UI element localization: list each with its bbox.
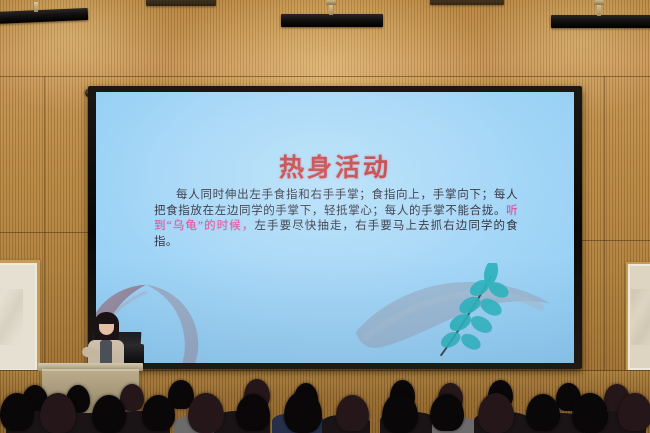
projection-screen: 热身活动 每人同时伸出左手食指和右手手掌；食指向上，手掌向下；每人把食指放在左边… xyxy=(88,86,582,369)
leaf-branch-decoration xyxy=(420,263,516,359)
wall-seam-vertical xyxy=(44,76,45,372)
slide-title: 热身活动 xyxy=(96,148,574,184)
wall-seam-vertical xyxy=(604,76,605,372)
wall-seam xyxy=(572,240,650,241)
ceiling-light-fixture xyxy=(146,0,216,6)
slide-body-part: 每人同时伸出左手食指和右手手掌；食指向上，手掌向下；每人把食指放在左边同学的手掌… xyxy=(154,189,518,217)
presentation-photo: 热身活动 每人同时伸出左手食指和右手手掌；食指向上，手掌向下；每人把食指放在左边… xyxy=(0,0,650,433)
ceiling-light-fixture xyxy=(551,15,650,28)
ceiling-light-cap xyxy=(594,0,604,5)
ceiling-light-cap xyxy=(326,0,336,5)
ceiling-light-fixture xyxy=(430,0,504,5)
wall-panel-left xyxy=(0,260,40,374)
wall-seam xyxy=(0,76,650,77)
ceiling-light-fixture xyxy=(281,14,383,27)
wall-panel-markings xyxy=(631,289,650,344)
ceiling-light-stem xyxy=(329,4,333,15)
wall-seam xyxy=(0,232,100,233)
podium xyxy=(42,369,139,415)
ceiling-light-stem xyxy=(34,2,38,12)
wall-panel-right xyxy=(626,262,650,372)
presentation-slide: 热身活动 每人同时伸出左手食指和右手手掌；食指向上，手掌向下；每人把食指放在左边… xyxy=(96,92,574,363)
wall-panel-markings xyxy=(0,289,23,345)
presenter-fringe xyxy=(98,315,115,324)
slide-body-text: 每人同时伸出左手食指和右手手掌；食指向上，手掌向下；每人把食指放在左边同学的手掌… xyxy=(154,188,518,250)
